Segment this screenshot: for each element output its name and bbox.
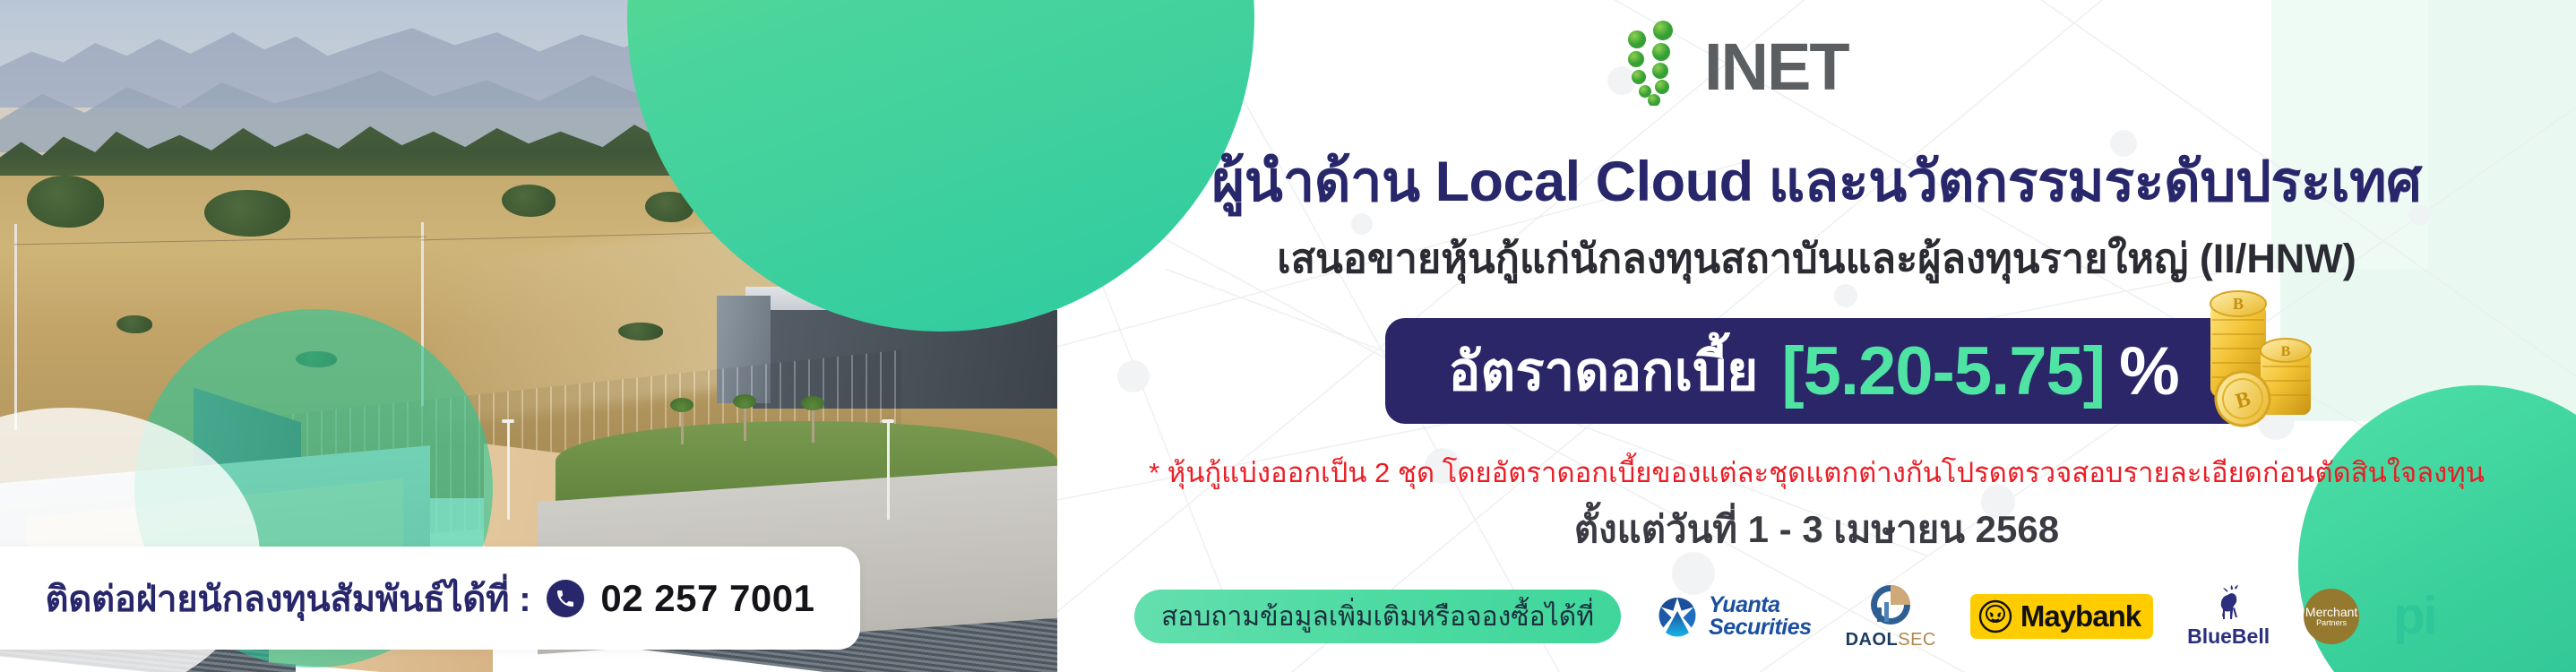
disclaimer-text: * หุ้นกู้แบ่งออกเป็น 2 ชุด โดยอัตราดอกเบ… — [1057, 450, 2576, 495]
photo-tree — [204, 190, 290, 237]
pi-wordmark: pi — [2393, 596, 2436, 637]
inet-logo-text: INET — [1704, 37, 1848, 98]
maybank-tiger-icon — [1977, 599, 2013, 634]
interest-rate-row: อัตราดอกเบี้ย [5.20-5.75] % — [1057, 318, 2576, 424]
photo-palm-tree — [801, 396, 824, 410]
contact-phone-number[interactable]: 02 257 7001 — [600, 577, 814, 620]
photo-palm-tree — [670, 398, 694, 412]
interest-rate-label: อัตราดอกเบี้ย — [1448, 329, 1758, 414]
bluebell-wordmark: BlueBell — [2187, 625, 2270, 649]
interest-rate-value: [5.20-5.75] — [1781, 332, 2105, 410]
gold-coin-stack-icon: B B — [2187, 280, 2322, 442]
photo-palm-tree — [733, 394, 756, 409]
phone-icon — [547, 580, 584, 617]
partner-logo-pi[interactable]: pi — [2393, 596, 2436, 637]
daol-line1: DAOL — [1846, 630, 1899, 650]
partner-logo-yuanta[interactable]: Yuanta Securities — [1655, 594, 1812, 639]
partner-logo-bluebell[interactable]: BlueBell — [2187, 584, 2270, 649]
merchant-line2: Partners — [2316, 619, 2347, 627]
more-info-button[interactable]: สอบถามข้อมูลเพิ่มเติมหรือจองซื้อได้ที่ — [1134, 590, 1621, 643]
svg-text:B: B — [2280, 344, 2290, 359]
merchant-line1: Merchant — [2305, 606, 2357, 619]
footer-partner-bar: สอบถามข้อมูลเพิ่มเติมหรือจองซื้อได้ที่ — [1057, 582, 2576, 650]
photo-bush — [116, 315, 152, 333]
yuanta-line2: Securities — [1709, 616, 1812, 639]
daol-wordmark: DAOLSEC — [1846, 630, 1936, 650]
photo-light-pole — [507, 421, 510, 520]
promo-banner: ติดต่อฝ่ายนักลงทุนสัมพันธ์ได้ที่ : 02 25… — [0, 0, 2576, 672]
bluebell-deer-icon — [2210, 584, 2247, 624]
interest-rate-percent-sign: % — [2119, 332, 2180, 410]
photo-tree — [27, 176, 104, 228]
inet-logo: INET — [1622, 20, 1848, 106]
photo-bush — [618, 323, 663, 340]
photo-light-pole — [502, 419, 514, 423]
photo-light-pole — [882, 419, 894, 423]
investor-contact-bar: ติดต่อฝ่ายนักลงทุนสัมพันธ์ได้ที่ : 02 25… — [0, 547, 860, 650]
photo-utility-pole — [14, 224, 17, 430]
interest-rate-box: อัตราดอกเบี้ย [5.20-5.75] % — [1385, 318, 2247, 424]
partner-logo-merchant-partners[interactable]: Merchant Partners — [2304, 589, 2359, 644]
offer-date-range: ตั้งแต่วันที่ 1 - 3 เมษายน 2568 — [1057, 500, 2576, 559]
yuanta-star-icon — [1655, 594, 1700, 639]
inet-dots-logo-icon — [1622, 20, 1704, 106]
page-subtitle: เสนอขายหุ้นกู้แก่นักลงทุนสถาบันและผู้ลงท… — [1057, 226, 2576, 290]
contact-label: ติดต่อฝ่ายนักลงทุนสัมพันธ์ได้ที่ : — [46, 570, 531, 627]
photo-tree — [502, 185, 556, 217]
daol-line2: SEC — [1898, 630, 1936, 650]
page-title: ผู้นำด้าน Local Cloud และนวัตกรรมระดับปร… — [1057, 136, 2576, 226]
maybank-wordmark: Maybank — [2020, 599, 2141, 633]
yuanta-wordmark: Yuanta Securities — [1709, 594, 1812, 639]
yuanta-line1: Yuanta — [1709, 594, 1812, 616]
partner-logos: Yuanta Securities DAOLSEC — [1655, 582, 2436, 650]
photo-light-pole — [887, 421, 890, 520]
partner-logo-maybank[interactable]: Maybank — [1970, 594, 2153, 639]
merchant-circle-icon: Merchant Partners — [2304, 589, 2359, 644]
daol-pie-icon — [1866, 582, 1915, 627]
svg-text:B: B — [2233, 295, 2244, 313]
promo-content: INET ผู้นำด้าน Local Cloud และนวัตกรรมระ… — [1057, 0, 2576, 672]
partner-logo-daol[interactable]: DAOLSEC — [1846, 582, 1936, 650]
